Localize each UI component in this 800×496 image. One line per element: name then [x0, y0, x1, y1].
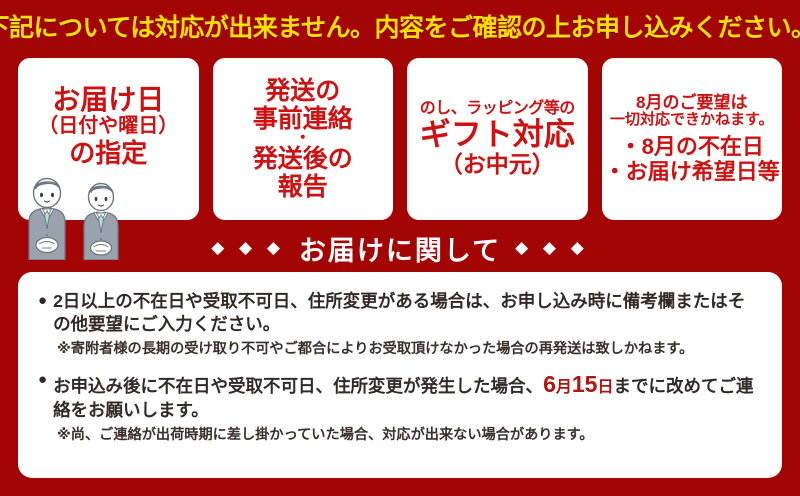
box-4-line-3: ・8月の不在日 [620, 135, 764, 160]
box-2-line-5: 報告 [278, 173, 328, 201]
page-title: 下記については対応が出来ません。内容をご確認の上お申し込みください。 [0, 8, 800, 44]
box-2-line-1: 発送の [265, 77, 340, 105]
box-3-line-3: （お中元） [440, 152, 555, 178]
restriction-box-gift: のし、ラッピング等の ギフト対応 （お中元） [407, 58, 588, 220]
section-heading-text: お届けに関して [299, 229, 501, 268]
box-1-line-2: （日付や曜日） [38, 115, 178, 137]
deadline-day-unit: 日 [597, 379, 613, 396]
bullet-icon: ● [38, 369, 47, 391]
box-1-line-3: の指定 [69, 139, 147, 168]
notice-1-text: 2日以上の不在日や受取不可日、住所変更がある場合は、お申し込み時に備考欄またはそ… [53, 290, 762, 336]
box-3-line-1: のし、ラッピング等の [420, 100, 575, 118]
deadline-month-number: 6 [543, 371, 556, 397]
bowing-businessmen-icon [20, 176, 128, 260]
box-2-line-3: ・ [295, 133, 311, 146]
box-4-line-4: ・お届け希望日等 [604, 160, 780, 185]
box-2-line-2: 事前連絡 [253, 105, 353, 133]
notice-2-note: ※尚、ご連絡が出荷時期に差し掛かっていた場合、対応が出来ない場合があります。 [57, 426, 762, 444]
restriction-box-list: お届け日 （日付や曜日） の指定 発送の 事前連絡 ・ 発送後の 報告 のし、ラ… [18, 58, 782, 220]
box-2-line-4: 発送後の [253, 145, 353, 173]
restriction-box-august: 8月のご要望は 一切対応できかねます。 ・8月の不在日 ・お届け希望日等 [602, 58, 783, 220]
restriction-box-shipping-notice: 発送の 事前連絡 ・ 発送後の 報告 [213, 58, 394, 220]
notice-item-2: ● お申込み後に不在日や受取不可日、住所変更が発生した場合、6月15日までに改め… [38, 369, 762, 445]
diamond-left-icon: ◆ ◆ ◆ [211, 238, 285, 258]
deadline-month-unit: 月 [556, 379, 572, 396]
diamond-right-icon: ◆ ◆ ◆ [515, 238, 589, 258]
header-band: 下記については対応が出来ません。内容をご確認の上お申し込みください。 [0, 0, 800, 52]
notice-2-text-before: お申込み後に不在日や受取不可日、住所変更が発生した場合、 [53, 376, 543, 396]
deadline-date: 6月15日 [543, 376, 613, 396]
box-1-line-1: お届け日 [52, 84, 164, 115]
box-4-line-2: 一切対応できかねます。 [610, 112, 774, 129]
notice-item-1: ● 2日以上の不在日や受取不可日、住所変更がある場合は、お申し込み時に備考欄また… [38, 290, 762, 359]
notice-2-text: お申込み後に不在日や受取不可日、住所変更が発生した場合、6月15日までに改めてご… [53, 369, 762, 422]
box-3-line-2: ギフト対応 [420, 118, 575, 153]
notice-1-note: ※寄附者様の長期の受け取り不可やご都合によりお受取頂けなかった場合の再発送は致し… [57, 340, 762, 358]
deadline-day-number: 15 [572, 371, 598, 397]
box-4-line-1: 8月のご要望は [636, 93, 747, 112]
delivery-notice-panel: ● 2日以上の不在日や受取不可日、住所変更がある場合は、お申し込み時に備考欄また… [18, 272, 782, 478]
bullet-icon: ● [38, 290, 47, 312]
